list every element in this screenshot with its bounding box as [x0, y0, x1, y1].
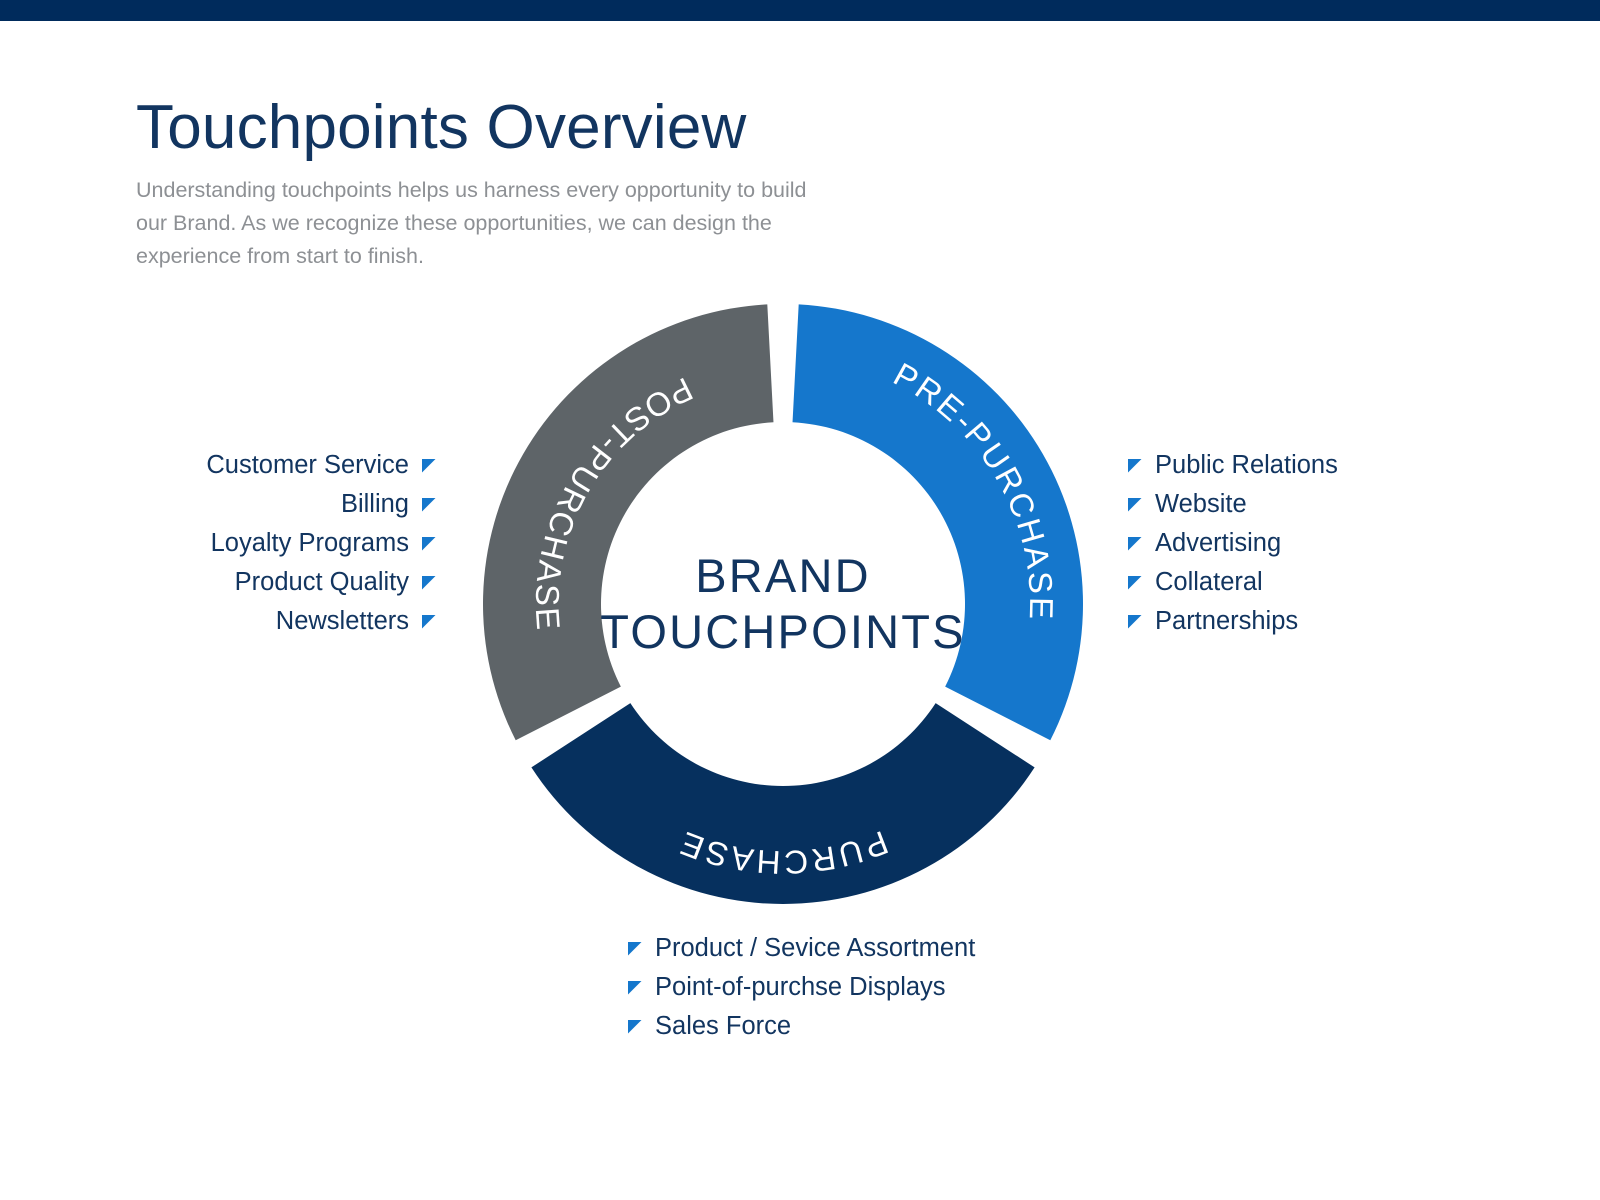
post-purchase-item-label: Customer Service: [206, 453, 409, 479]
purchase-item-label: Product / Sevice Assortment: [655, 936, 975, 962]
purchase-item-label: Sales Force: [655, 1014, 791, 1040]
triangle-flag-icon: [628, 1020, 642, 1034]
brand-touchpoints-donut-chart: PRE-PURCHASE PURCHASE POST-PURCHASE BRAN…: [483, 304, 1083, 904]
segment-post-purchase[interactable]: [483, 304, 773, 740]
pre-purchase-item-label: Website: [1155, 492, 1247, 518]
center-label-line1: BRAND: [695, 549, 871, 602]
pre-purchase-item-label: Collateral: [1155, 570, 1263, 596]
triangle-flag-icon: [422, 459, 436, 473]
post-purchase-item-label: Billing: [341, 492, 409, 518]
list-item[interactable]: Public Relations: [1128, 446, 1528, 485]
pre-purchase-item-label: Public Relations: [1155, 453, 1338, 479]
triangle-flag-icon: [1128, 459, 1142, 473]
post-purchase-item-label: Newsletters: [276, 609, 409, 635]
pre-purchase-touchpoint-list: Public RelationsWebsiteAdvertisingCollat…: [1128, 446, 1528, 641]
triangle-flag-icon: [422, 537, 436, 551]
list-item[interactable]: Customer Service: [120, 446, 436, 485]
triangle-flag-icon: [1128, 615, 1142, 629]
list-item[interactable]: Loyalty Programs: [120, 524, 436, 563]
list-item[interactable]: Partnerships: [1128, 602, 1528, 641]
list-item[interactable]: Product Quality: [120, 563, 436, 602]
list-item[interactable]: Point-of-purchse Displays: [628, 968, 1048, 1007]
donut-center-label: BRAND TOUCHPOINTS: [600, 549, 965, 658]
triangle-flag-icon: [1128, 537, 1142, 551]
list-item[interactable]: Billing: [120, 485, 436, 524]
list-item[interactable]: Newsletters: [120, 602, 436, 641]
triangle-flag-icon: [1128, 498, 1142, 512]
triangle-flag-icon: [628, 981, 642, 995]
donut-svg: PRE-PURCHASE PURCHASE POST-PURCHASE BRAN…: [483, 304, 1083, 904]
list-item[interactable]: Advertising: [1128, 524, 1528, 563]
list-item[interactable]: Website: [1128, 485, 1528, 524]
pre-purchase-item-label: Advertising: [1155, 531, 1281, 557]
top-accent-bar: [0, 0, 1600, 21]
post-purchase-item-label: Product Quality: [235, 570, 409, 596]
list-item[interactable]: Sales Force: [628, 1007, 1048, 1046]
triangle-flag-icon: [422, 576, 436, 590]
pre-purchase-item-label: Partnerships: [1155, 609, 1298, 635]
triangle-flag-icon: [422, 498, 436, 512]
list-item[interactable]: Collateral: [1128, 563, 1528, 602]
triangle-flag-icon: [422, 615, 436, 629]
center-label-line2: TOUCHPOINTS: [600, 605, 965, 658]
post-purchase-item-label: Loyalty Programs: [211, 531, 409, 557]
post-purchase-touchpoint-list: Customer ServiceBillingLoyalty ProgramsP…: [120, 446, 436, 641]
header-block: Touchpoints Overview Understanding touch…: [136, 96, 896, 272]
purchase-touchpoint-list: Product / Sevice AssortmentPoint-of-purc…: [628, 929, 1048, 1046]
page-subtitle: Understanding touchpoints helps us harne…: [136, 174, 808, 272]
triangle-flag-icon: [1128, 576, 1142, 590]
page-title: Touchpoints Overview: [136, 96, 896, 160]
list-item[interactable]: Product / Sevice Assortment: [628, 929, 1048, 968]
triangle-flag-icon: [628, 942, 642, 956]
purchase-item-label: Point-of-purchse Displays: [655, 975, 946, 1001]
